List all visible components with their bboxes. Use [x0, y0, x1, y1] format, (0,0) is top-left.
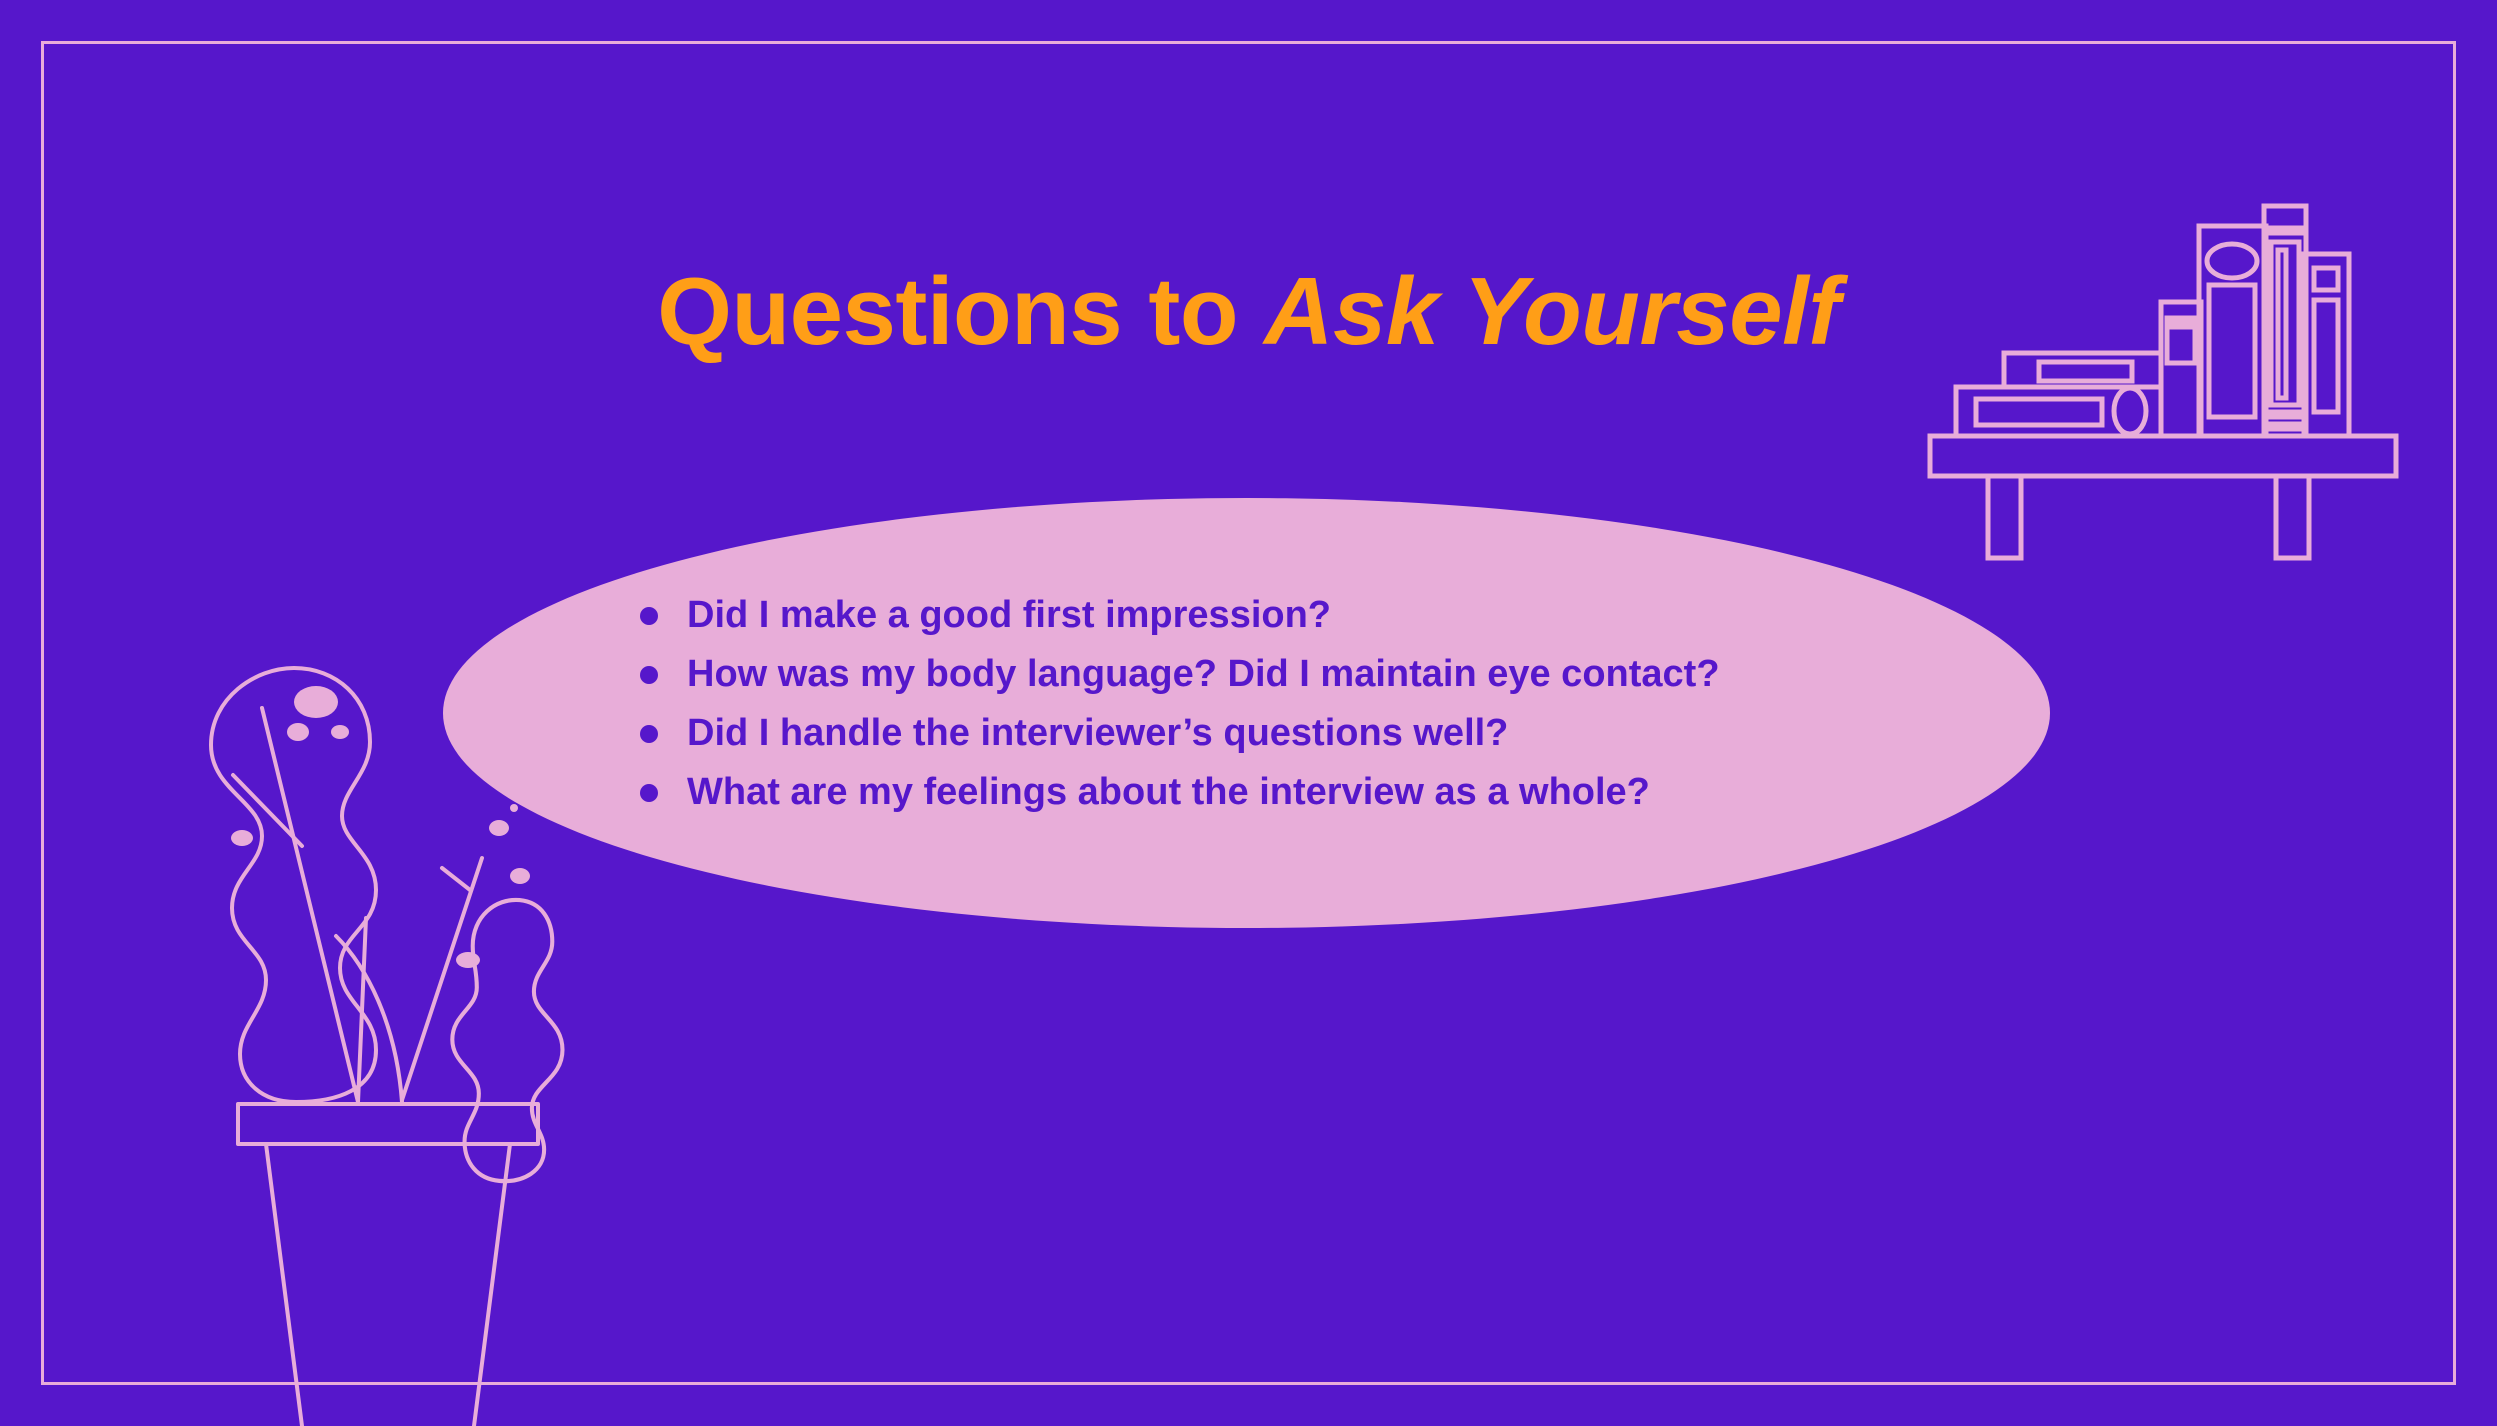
- cactus-spot-large: [294, 686, 338, 718]
- page-title: Questions to Ask Yourself: [0, 262, 2497, 363]
- stem-twig-line: [442, 868, 470, 890]
- page-title-plain: Questions to: [657, 258, 1264, 365]
- pot-rim-shape: [238, 1104, 538, 1144]
- list-item: Did I make a good first impression?: [640, 586, 1940, 645]
- questions-list: Did I make a good first impression? How …: [640, 586, 1940, 822]
- list-item: Did I handle the interviewer’s questions…: [640, 704, 1940, 763]
- page-title-emphasis: Ask Yourself: [1264, 258, 1840, 365]
- list-item-label: What are my feelings about the interview…: [687, 763, 1650, 822]
- cactus-spot-dot-a: [510, 804, 518, 812]
- shelf-leg-right-shape: [2276, 476, 2309, 558]
- cactus-spot-small-f: [456, 952, 480, 968]
- list-item: How was my body language? Did I maintain…: [640, 645, 1940, 704]
- bullet-dot-icon: [640, 725, 658, 743]
- bullet-dot-icon: [640, 784, 658, 802]
- bookshelf-illustration: [1926, 178, 2416, 573]
- stem-branch-right-line: [402, 858, 482, 1100]
- standing-book-c-stripe-foot: [2264, 424, 2306, 429]
- lying-book-lower-emblem: [2114, 388, 2146, 434]
- bullet-dot-icon: [640, 666, 658, 684]
- list-item: What are my feelings about the interview…: [640, 763, 1940, 822]
- cactus-spot-small-b: [331, 725, 349, 739]
- cactus-arm-right-shape: [452, 900, 562, 1181]
- list-item-label: Did I make a good first impression?: [687, 586, 1331, 645]
- cactus-spot-small-d: [489, 820, 509, 836]
- list-item-label: Did I handle the interviewer’s questions…: [687, 704, 1508, 763]
- list-item-label: How was my body language? Did I maintain…: [687, 645, 1720, 704]
- shelf-plank-shape: [1930, 436, 2396, 476]
- cactus-spot-small-e: [510, 868, 530, 884]
- pot-body-shape: [266, 1144, 510, 1426]
- slide-canvas: Questions to Ask Yourself Did I make a g…: [0, 0, 2497, 1426]
- standing-book-c-stripe-bottom: [2264, 412, 2306, 417]
- cactus-spot-small-c: [231, 830, 253, 846]
- lying-book-lower-label: [1976, 399, 2102, 425]
- cactus-spot-small-a: [287, 723, 309, 741]
- stem-main-line: [262, 708, 358, 1102]
- bullet-dot-icon: [640, 607, 658, 625]
- bookshelf-svg: [1926, 178, 2416, 573]
- lying-book-lower-shape: [1956, 387, 2161, 436]
- standing-book-c-stripe-top: [2264, 228, 2306, 233]
- shelf-leg-left-shape: [1988, 476, 2021, 558]
- lying-book-upper-label: [2039, 362, 2132, 381]
